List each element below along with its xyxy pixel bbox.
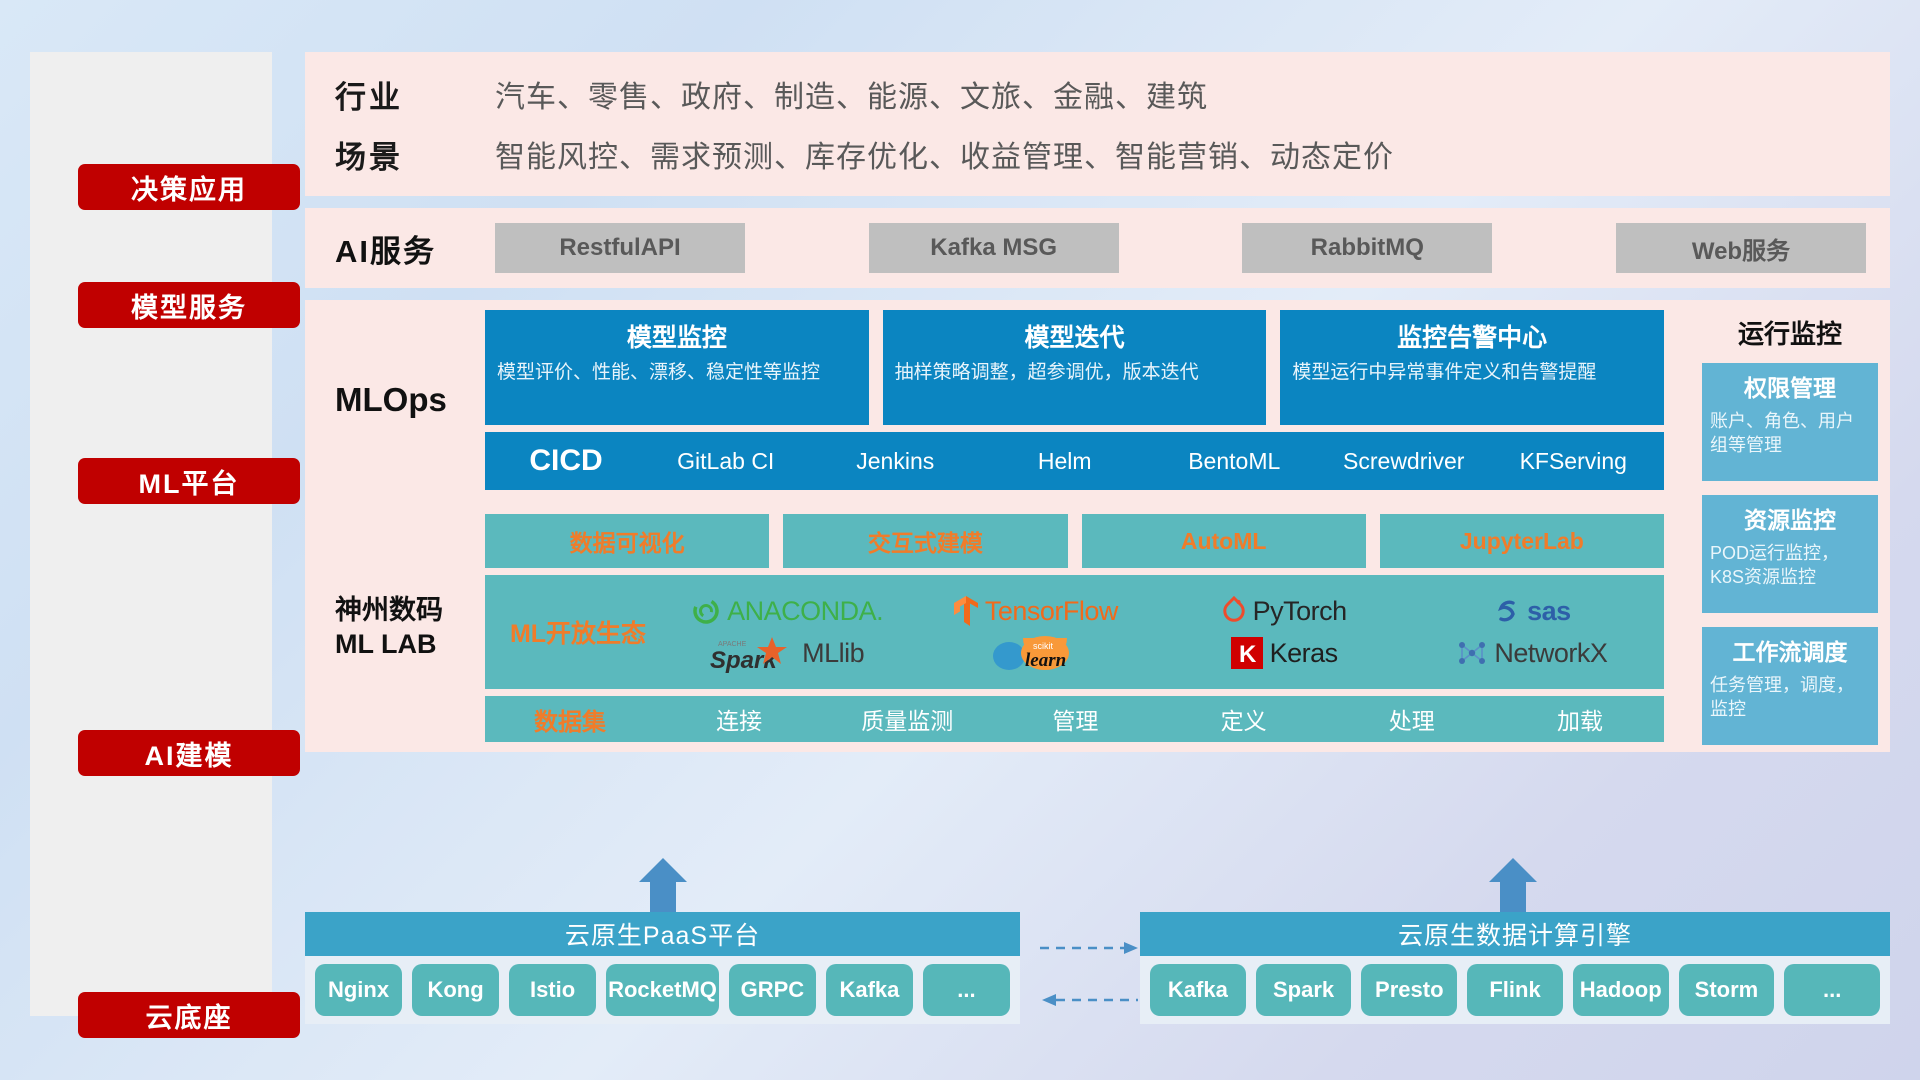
engine-chip-hadoop[interactable]: Hadoop [1573, 964, 1669, 1016]
engine-chip-more[interactable]: ... [1784, 964, 1880, 1016]
pytorch-logo-text: PyTorch [1253, 596, 1347, 627]
left-rail: 决策应用 模型服务 ML平台 AI建模 云底座 [30, 52, 272, 1016]
keras-logo-text: Keras [1270, 638, 1338, 669]
cicd-item-screwdriver[interactable]: Screwdriver [1319, 449, 1489, 473]
cicd-item-bentoml[interactable]: BentoML [1150, 449, 1320, 473]
dataset-items: 连接 质量监测 管理 定义 处理 加载 [655, 702, 1664, 736]
monitor-card-desc: POD运行监控，K8S资源监控 [1710, 541, 1870, 590]
paas-chip-kafka[interactable]: Kafka [826, 964, 913, 1016]
cicd-label: CICD [491, 444, 641, 478]
monitor-card-resource[interactable]: 资源监控 POD运行监控，K8S资源监控 [1702, 495, 1878, 613]
scenario-row: 场景 智能风控、需求预测、库存优化、收益管理、智能营销、动态定价 [335, 124, 1890, 184]
ml-open-ecosystem-label: ML开放生态 [493, 614, 663, 650]
industry-label: 行业 [335, 72, 495, 117]
dataset-item-quality-monitoring[interactable]: 质量监测 [823, 702, 991, 736]
arrow-dashed-left [1042, 994, 1138, 1006]
dataset-item-management[interactable]: 管理 [991, 702, 1159, 736]
ml-lab-tools: 数据可视化 交互式建模 AutoML JupyterLab [485, 514, 1664, 568]
engine-chip-flink[interactable]: Flink [1467, 964, 1563, 1016]
paas-chip-istio[interactable]: Istio [509, 964, 596, 1016]
rail-tag-model-service[interactable]: 模型服务 [78, 282, 300, 328]
mlops-card-title: 模型迭代 [895, 318, 1255, 354]
keras-logo: K Keras [1230, 636, 1338, 670]
ml-lab-tool-automl[interactable]: AutoML [1082, 514, 1366, 568]
cicd-item-jenkins[interactable]: Jenkins [811, 449, 981, 473]
pytorch-logo: PyTorch [1221, 596, 1347, 627]
monitor-card-desc: 账户、角色、用户组等管理 [1710, 409, 1870, 458]
data-engine-platform-chips: Kafka Spark Presto Flink Hadoop Storm ..… [1140, 956, 1890, 1024]
ai-service-chip-restfulapi[interactable]: RestfulAPI [495, 223, 745, 273]
paas-platform: 云原生PaaS平台 Nginx Kong Istio RocketMQ GRPC… [305, 912, 1020, 1024]
architecture-diagram: 决策应用 模型服务 ML平台 AI建模 云底座 行业 汽车、零售、政府、制造、能… [0, 0, 1920, 1080]
cicd-item-helm[interactable]: Helm [980, 449, 1150, 473]
engine-chip-kafka[interactable]: Kafka [1150, 964, 1246, 1016]
spark-mllib-logo: APACHE Spark MLlib [710, 633, 864, 673]
mlops-card-alert-center[interactable]: 监控告警中心 模型运行中异常事件定义和告警提醒 [1280, 310, 1664, 425]
ml-lab-label-line2: ML LAB [335, 628, 443, 662]
ai-service-items: RestfulAPI Kafka MSG RabbitMQ Web服务 [495, 223, 1890, 273]
ml-lab-tool-jupyterlab[interactable]: JupyterLab [1380, 514, 1664, 568]
networkx-logo: NetworkX [1456, 637, 1607, 669]
anaconda-icon [691, 596, 721, 626]
monitor-card-permission[interactable]: 权限管理 账户、角色、用户组等管理 [1702, 363, 1878, 481]
ml-lab-tool-interactive-modeling[interactable]: 交互式建模 [783, 514, 1067, 568]
paas-chip-kong[interactable]: Kong [412, 964, 499, 1016]
arrow-up-data-engine [1489, 858, 1537, 916]
cicd-row: CICD GitLab CI Jenkins Helm BentoML Scre… [485, 432, 1664, 490]
dataset-item-connect[interactable]: 连接 [655, 702, 823, 736]
arrow-dashed-right [1040, 942, 1138, 954]
mlops-cards: 模型监控 模型评价、性能、漂移、稳定性等监控 模型迭代 抽样策略调整，超参调优，… [485, 310, 1664, 425]
ml-lab-section: 神州数码 ML LAB 数据可视化 交互式建模 AutoML JupyterLa… [305, 504, 1678, 752]
paas-chip-grpc[interactable]: GRPC [729, 964, 816, 1016]
sas-icon [1493, 597, 1521, 625]
monitor-card-desc: 任务管理，调度，监控 [1710, 673, 1870, 722]
mlops-card-desc: 模型评价、性能、漂移、稳定性等监控 [497, 360, 857, 386]
dataset-item-loading[interactable]: 加载 [1496, 702, 1664, 736]
pytorch-icon [1221, 596, 1247, 626]
rail-tag-cloud-base[interactable]: 云底座 [78, 992, 300, 1038]
mlops-card-title: 监控告警中心 [1292, 318, 1652, 354]
ai-service-chip-rabbitmq[interactable]: RabbitMQ [1242, 223, 1492, 273]
rail-tag-ai-modeling[interactable]: AI建模 [78, 730, 300, 776]
mlops-content: 模型监控 模型评价、性能、漂移、稳定性等监控 模型迭代 抽样策略调整，超参调优，… [485, 310, 1678, 490]
monitor-card-title: 工作流调度 [1710, 633, 1870, 667]
monitor-card-workflow[interactable]: 工作流调度 任务管理，调度，监控 [1702, 627, 1878, 745]
networkx-icon [1456, 637, 1488, 669]
ai-service-label: AI服务 [335, 226, 495, 271]
ml-open-ecosystem-logos: ANACONDA. TensorFlow [663, 590, 1656, 674]
dataset-label: 数据集 [485, 702, 655, 737]
mlops-card-desc: 模型运行中异常事件定义和告警提醒 [1292, 360, 1652, 386]
ml-lab-content: 数据可视化 交互式建模 AutoML JupyterLab ML开放生态 [485, 514, 1678, 742]
mlops-section: MLOps 模型监控 模型评价、性能、漂移、稳定性等监控 模型迭代 抽样策略调整… [305, 300, 1678, 500]
spark-icon: APACHE Spark [710, 633, 796, 673]
scikit-learn-icon: scikit learn [989, 632, 1081, 674]
cicd-item-kfserving[interactable]: KFServing [1489, 449, 1659, 473]
paas-chip-more[interactable]: ... [923, 964, 1010, 1016]
dataset-item-definition[interactable]: 定义 [1160, 702, 1328, 736]
anaconda-logo: ANACONDA. [691, 596, 883, 627]
scenario-values: 智能风控、需求预测、库存优化、收益管理、智能营销、动态定价 [495, 132, 1394, 176]
ai-service-band: AI服务 RestfulAPI Kafka MSG RabbitMQ Web服务 [305, 208, 1890, 288]
networkx-logo-text: NetworkX [1494, 638, 1607, 668]
dataset-item-processing[interactable]: 处理 [1328, 702, 1496, 736]
dataset-row: 数据集 连接 质量监测 管理 定义 处理 加载 [485, 696, 1664, 742]
data-engine-platform: 云原生数据计算引擎 Kafka Spark Presto Flink Hadoo… [1140, 912, 1890, 1024]
monitor-card-title: 资源监控 [1710, 501, 1870, 535]
rail-tag-decision-app[interactable]: 决策应用 [78, 164, 300, 210]
ml-lab-tool-data-visualization[interactable]: 数据可视化 [485, 514, 769, 568]
ai-service-chip-kafka-msg[interactable]: Kafka MSG [869, 223, 1119, 273]
paas-chip-nginx[interactable]: Nginx [315, 964, 402, 1016]
cicd-item-gitlab-ci[interactable]: GitLab CI [641, 449, 811, 473]
mllib-logo-text: MLlib [802, 638, 864, 669]
mlops-card-title: 模型监控 [497, 318, 857, 354]
ml-open-ecosystem: ML开放生态 ANACONDA. [485, 575, 1664, 689]
tensorflow-logo: TensorFlow [953, 595, 1118, 627]
svg-text:learn: learn [1025, 650, 1066, 671]
arrow-up-paas [639, 858, 687, 916]
decision-app-band: 行业 汽车、零售、政府、制造、能源、文旅、金融、建筑 场景 智能风控、需求预测、… [305, 52, 1890, 196]
engine-chip-storm[interactable]: Storm [1679, 964, 1775, 1016]
ml-lab-label: 神州数码 ML LAB [335, 514, 485, 742]
mlops-card-model-iteration[interactable]: 模型迭代 抽样策略调整，超参调优，版本迭代 [883, 310, 1267, 425]
runtime-monitor-title: 运行监控 [1702, 314, 1878, 351]
scikit-learn-logo: scikit learn [989, 632, 1081, 674]
industry-values: 汽车、零售、政府、制造、能源、文旅、金融、建筑 [495, 72, 1208, 116]
anaconda-logo-text: ANACONDA. [727, 596, 883, 627]
svg-text:K: K [1239, 641, 1257, 668]
mlops-card-desc: 抽样策略调整，超参调优，版本迭代 [895, 360, 1255, 386]
runtime-monitor-panel: 运行监控 权限管理 账户、角色、用户组等管理 资源监控 POD运行监控，K8S资… [1690, 300, 1890, 752]
ai-service-chip-web-service[interactable]: Web服务 [1616, 223, 1866, 273]
ml-lab-label-line1: 神州数码 [335, 594, 443, 628]
paas-platform-chips: Nginx Kong Istio RocketMQ GRPC Kafka ... [305, 956, 1020, 1024]
sas-logo-text: sas [1527, 596, 1571, 627]
cicd-items: GitLab CI Jenkins Helm BentoML Screwdriv… [641, 449, 1658, 473]
rail-tag-ml-platform[interactable]: ML平台 [78, 458, 300, 504]
scenario-label: 场景 [335, 132, 495, 177]
tensorflow-icon [953, 595, 979, 627]
paas-chip-rocketmq[interactable]: RocketMQ [606, 964, 719, 1016]
tensorflow-logo-text: TensorFlow [985, 596, 1118, 627]
paas-platform-title: 云原生PaaS平台 [305, 912, 1020, 956]
sas-logo: sas [1493, 596, 1571, 627]
mlops-label: MLOps [335, 310, 485, 490]
engine-chip-spark[interactable]: Spark [1256, 964, 1352, 1016]
industry-row: 行业 汽车、零售、政府、制造、能源、文旅、金融、建筑 [335, 64, 1890, 124]
monitor-card-title: 权限管理 [1710, 369, 1870, 403]
keras-icon: K [1230, 636, 1264, 670]
mlops-card-model-monitoring[interactable]: 模型监控 模型评价、性能、漂移、稳定性等监控 [485, 310, 869, 425]
engine-chip-presto[interactable]: Presto [1361, 964, 1457, 1016]
data-engine-platform-title: 云原生数据计算引擎 [1140, 912, 1890, 956]
